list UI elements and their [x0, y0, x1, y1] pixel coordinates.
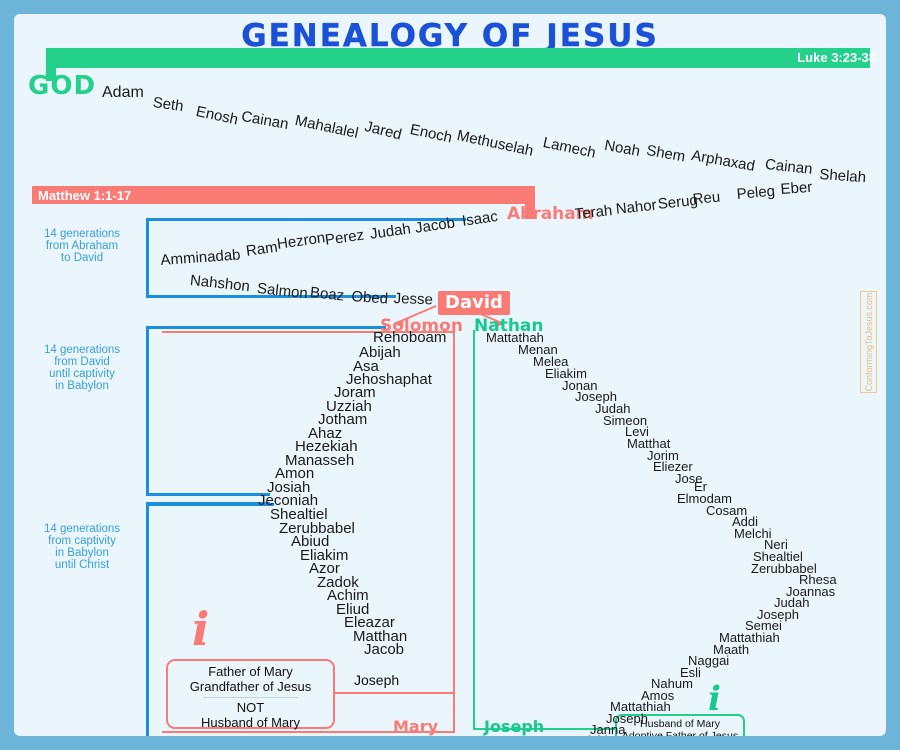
info-red-divider [203, 697, 298, 698]
god-origin-label: GOD [28, 71, 96, 101]
side-label-abraham-to-david: 14 generationsfrom Abrahamto David [32, 228, 132, 264]
info-icon-red: i [192, 602, 209, 656]
ancestor-name: Terah [574, 202, 613, 223]
ancestor-name: Cainan [240, 108, 290, 133]
info-red-line1: Father of Mary [168, 665, 333, 680]
ancestor-name: Jacob [364, 641, 404, 658]
bracket-david-top-extension [146, 326, 386, 329]
luke-banner-bar [46, 48, 870, 68]
ancestor-name: Lamech [541, 134, 597, 162]
side-label-line: from Abraham [32, 240, 132, 252]
ancestor-name: Enoch [408, 121, 453, 146]
ancestor-name: Mahalalel [293, 112, 359, 142]
ancestor-name: Arphaxad [690, 147, 756, 175]
ancestor-name: Shelah [819, 166, 867, 186]
ancestor-name: Seth [152, 94, 185, 115]
ancestor-name: Enosh [194, 103, 239, 128]
side-label-line: in Babylon [32, 547, 132, 559]
ancestor-name: Jared [363, 118, 404, 144]
side-label-david-to-captivity: 14 generationsfrom Daviduntil captivityi… [32, 344, 132, 392]
ancestor-name: Cainan [764, 156, 813, 178]
joseph-red-rule [335, 692, 455, 694]
side-label-line: 14 generations [32, 523, 132, 535]
ancestor-name: Perez [324, 227, 365, 249]
ancestor-name: Noah [603, 137, 641, 160]
key-name-joseph-green: Joseph [484, 717, 544, 736]
info-red-line3: NOT [168, 701, 333, 716]
mary-father-info-box: Father of Mary Grandfather of Jesus NOT … [166, 659, 335, 729]
ancestor-name: Jesse [393, 290, 433, 308]
luke-reference-label: Luke 3:23-38 [797, 50, 876, 65]
side-label-captivity-to-christ: 14 generationsfrom captivityin Babylonun… [32, 523, 132, 571]
ancestor-name: Adam [102, 84, 144, 102]
ancestor-name: Isaac [461, 208, 499, 230]
side-label-line: 14 generations [32, 228, 132, 240]
ancestor-name: Hezron [276, 229, 326, 253]
matthew-reference-label: Matthew 1:1-17 [38, 188, 131, 203]
side-label-line: 14 generations [32, 344, 132, 356]
key-name-joseph-red: Joseph [354, 672, 399, 688]
watermark-text: ConformingToJesus.com [864, 292, 874, 391]
ancestor-name: Boaz [309, 284, 345, 304]
ancestor-name: Nahor [615, 197, 657, 218]
ancestor-name: Obed [351, 288, 389, 308]
side-label-line: in Babylon [32, 380, 132, 392]
ancestor-name: Methuselah [455, 127, 534, 160]
ancestor-name: Eber [780, 179, 813, 198]
key-name-mary: Mary [393, 717, 438, 736]
side-label-line: from David [32, 356, 132, 368]
info-green-line2: Adoptive Father of Jesus [617, 730, 743, 736]
side-label-line: to David [32, 252, 132, 264]
info-red-line4: Husband of Mary [168, 716, 333, 731]
side-label-line: until Christ [32, 559, 132, 571]
side-label-line: until captivity [32, 368, 132, 380]
nathan-line-rule [473, 330, 475, 730]
diagram-canvas: GENEALOGY OF JESUS Luke 3:23-38 GOD Matt… [14, 14, 886, 736]
ancestor-name: Judah [369, 220, 412, 243]
side-label-line: from captivity [32, 535, 132, 547]
ancestor-name: Peleg [736, 183, 776, 203]
ancestor-name: Ram [245, 239, 279, 260]
info-red-line2: Grandfather of Jesus [168, 680, 333, 695]
ancestor-name: Serug [657, 192, 699, 213]
ancestor-name: Melchi [570, 733, 608, 736]
ancestor-name: Salmon [256, 280, 308, 302]
info-icon-green: i [708, 679, 721, 719]
key-name-david: David [438, 291, 510, 315]
ancestor-name: Shem [645, 142, 687, 166]
watermark: ConformingToJesus.com [860, 291, 877, 393]
